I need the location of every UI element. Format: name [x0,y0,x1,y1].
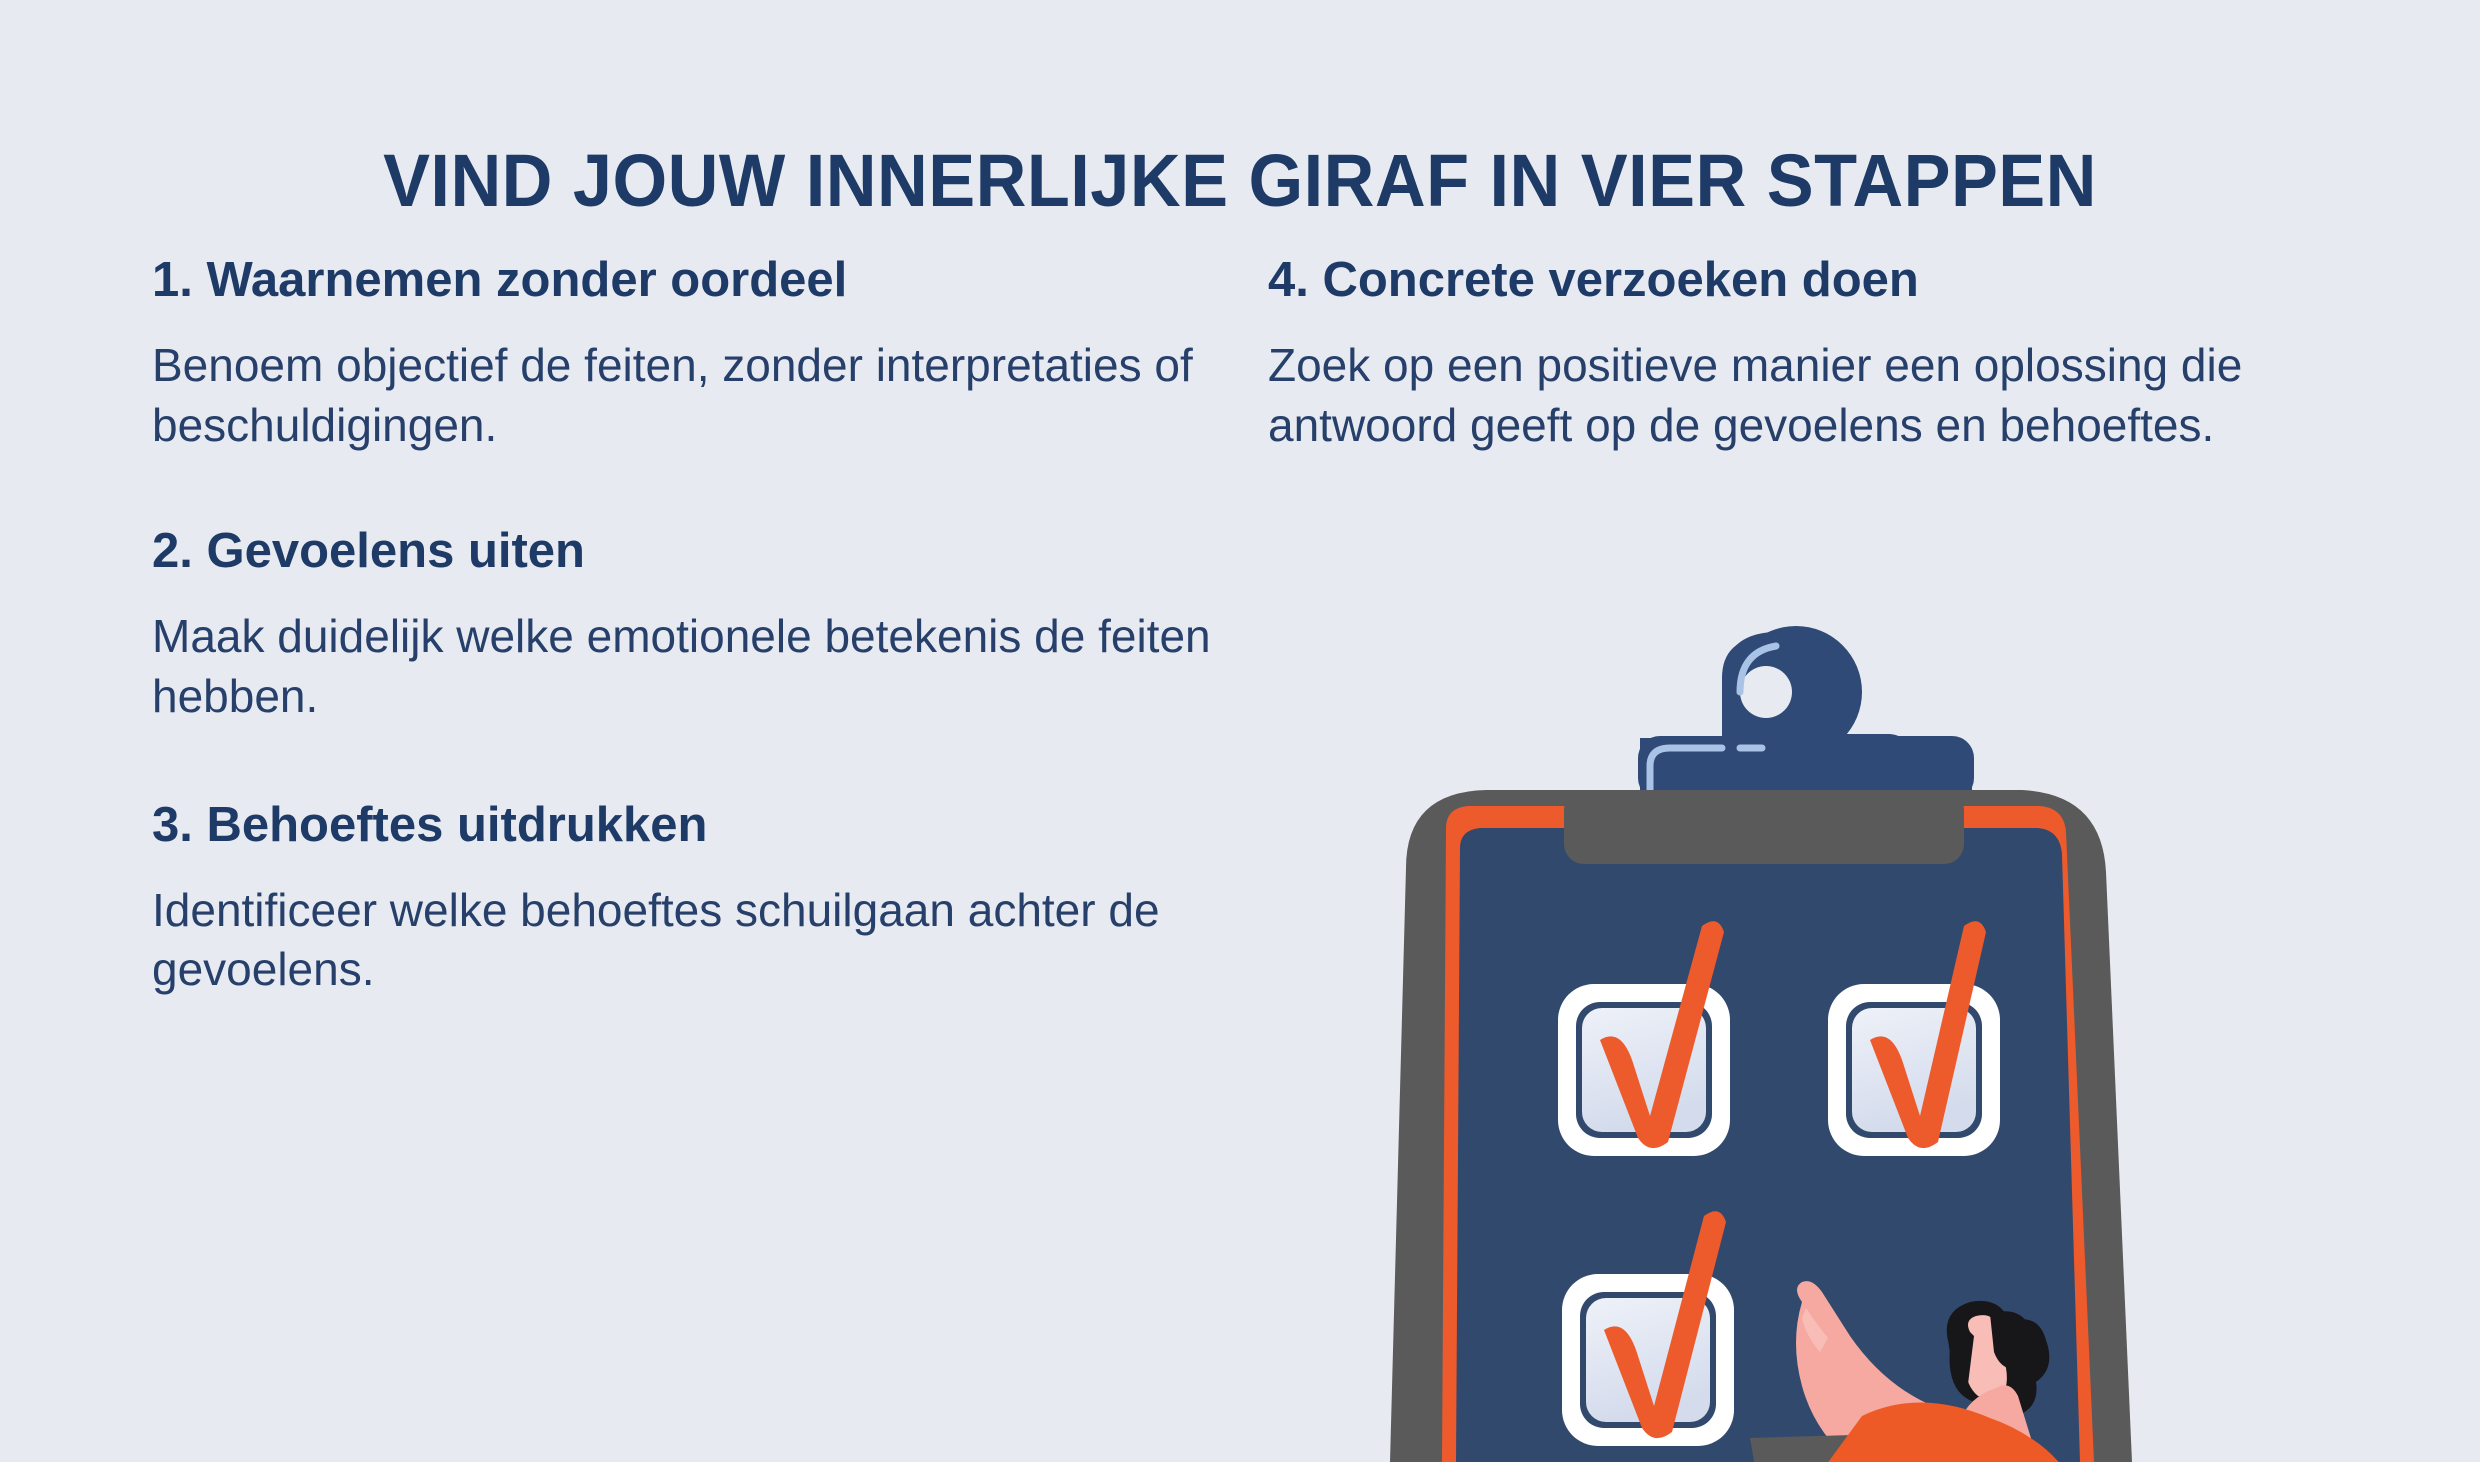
step-3-body: Identificeer welke behoeftes schuilgaan … [152,881,1242,1001]
page-title: VIND JOUW INNERLIJKE GIRAF IN VIER STAPP… [62,138,2418,223]
step-2-heading: 2. Gevoelens uiten [152,523,1242,581]
step-1-body: Benoem objectief de feiten, zonder inter… [152,336,1242,456]
infographic-page: VIND JOUW INNERLIJKE GIRAF IN VIER STAPP… [0,0,2480,1462]
right-column: 4. Concrete verzoeken doen Zoek op een p… [1268,252,2388,455]
left-column: 1. Waarnemen zonder oordeel Benoem objec… [152,252,1242,1068]
clipboard-illustration [1350,596,2480,1462]
clipboard-clip-icon [1638,626,1974,800]
step-item-2: 2. Gevoelens uiten Maak duidelijk welke … [152,523,1242,726]
step-4-heading: 4. Concrete verzoeken doen [1268,252,2388,310]
step-3-heading: 3. Behoeftes uitdrukken [152,797,1242,855]
step-item-3: 3. Behoeftes uitdrukken Identificeer wel… [152,797,1242,1000]
step-item-4: 4. Concrete verzoeken doen Zoek op een p… [1268,252,2388,455]
step-4-body: Zoek op een positieve manier een oplossi… [1268,336,2388,456]
step-1-heading: 1. Waarnemen zonder oordeel [152,252,1242,310]
step-item-1: 1. Waarnemen zonder oordeel Benoem objec… [152,252,1242,455]
step-2-body: Maak duidelijk welke emotionele betekeni… [152,607,1242,727]
